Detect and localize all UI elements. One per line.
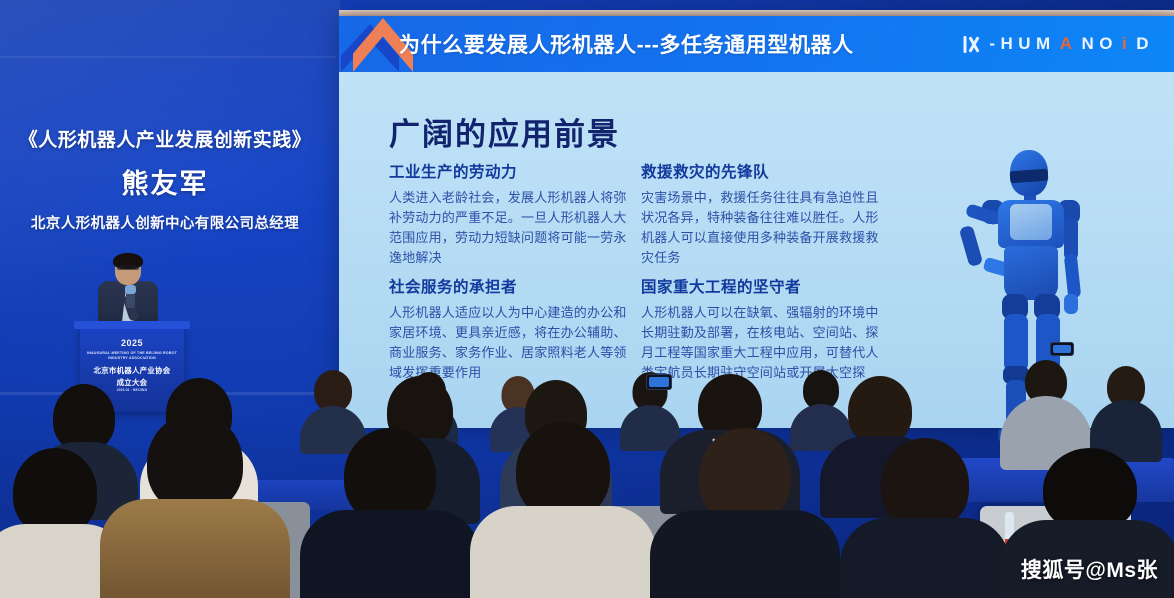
x-humanoid-logo-icon [965, 36, 982, 53]
podium-english-line: INAUGURAL MEETING OF THE BEIJING ROBOT I… [86, 351, 178, 362]
robot-forearm-right [1064, 253, 1082, 298]
slide-block-social-service: 社会服务的承担者 人形机器人适应以人为中心建造的办公和家居环境、更具亲近感，将在… [389, 275, 637, 383]
podium-year-badge: 2025 [80, 338, 184, 348]
microphone-head [125, 285, 136, 294]
slide-header-bar: 为什么要发展人形机器人---多任务通用型机器人 -HUMANOiD [339, 16, 1174, 72]
speaker-name: 熊友军 [0, 162, 330, 201]
robot-hand-right [1064, 294, 1078, 314]
robot-lower-torso [1004, 246, 1058, 300]
slide-body: 广阔的应用前景 工业生产的劳动力 人类进入老龄社会，发展人形机器人将弥补劳动力的… [339, 72, 1174, 428]
block-heading: 社会服务的承担者 [389, 275, 637, 297]
slide-block-rescue: 救援救灾的先锋队 灾害场景中，救援任务往往具有急迫性且状况各异，特种装备往往难以… [641, 160, 889, 268]
robot-shin-right [1038, 380, 1058, 432]
brand-text-3: D [1136, 34, 1154, 54]
slide-header-title: 为什么要发展人形机器人---多任务通用型机器人 [399, 29, 854, 59]
talk-title: 《人形机器人产业发展创新实践》 [0, 128, 330, 155]
block-heading: 国家重大工程的坚守者 [641, 275, 889, 297]
slide-section-title: 广阔的应用前景 [389, 109, 620, 154]
brand-text-2: NO [1081, 34, 1118, 54]
robot-chest-plate [1010, 204, 1052, 240]
podium-footer-line: 2025.01 · BEIJING [84, 388, 180, 392]
brand-text-1: -HUM [989, 34, 1055, 54]
block-heading: 工业生产的劳动力 [389, 160, 637, 182]
watermark-text: 搜狐号@Ms张 [1021, 554, 1158, 584]
robot-shin-left [1006, 380, 1026, 432]
podium-chinese-line-1: 北京市机器人产业协会 [84, 366, 180, 377]
humanoid-robot-illustration [948, 142, 1118, 462]
conference-photo-scene: 《人形机器人产业发展创新实践》 熊友军 北京人形机器人创新中心有限公司总经理 2… [0, 0, 1174, 598]
block-body: 灾害场景中，救援任务往往具有急迫性且状况各异，特种装备往往难以胜任。人形机器人可… [641, 188, 889, 268]
block-body: 人形机器人适应以人为中心建造的办公和家居环境、更具亲近感，将在办公辅助、商业服务… [389, 303, 637, 383]
brand-text-accent-i: i [1122, 34, 1132, 54]
speaker-glasses [117, 265, 139, 270]
block-heading: 救援救灾的先锋队 [641, 160, 889, 182]
x-humanoid-brand-logo: -HUMANOiD [965, 34, 1154, 54]
robot-forearm-left [959, 225, 983, 267]
brand-text-accent-a: A [1060, 34, 1078, 54]
robot-foot-right [1032, 428, 1066, 442]
slide-block-industry: 工业生产的劳动力 人类进入老龄社会，发展人形机器人将弥补劳动力的严重不足。一旦人… [389, 160, 637, 268]
block-body: 人形机器人可以在缺氧、强辐射的环境中长期驻勤及部署，在核电站、空间站、探月工程等… [641, 303, 889, 402]
speaker-role: 北京人形机器人创新中心有限公司总经理 [0, 212, 330, 233]
podium-top-edge [74, 321, 190, 329]
podium: 2025 INAUGURAL MEETING OF THE BEIJING RO… [80, 326, 184, 412]
slide-block-national-projects: 国家重大工程的坚守者 人形机器人可以在缺氧、强辐射的环境中长期驻勤及部署，在核电… [641, 275, 889, 402]
robot-foot-left [998, 428, 1032, 442]
speaker-title-panel: 《人形机器人产业发展创新实践》 熊友军 北京人形机器人创新中心有限公司总经理 [0, 128, 330, 233]
block-body: 人类进入老龄社会，发展人形机器人将弥补劳动力的严重不足。一旦人形机器人大范围应用… [389, 188, 637, 268]
robot-thigh-left [1004, 314, 1028, 372]
robot-thigh-right [1036, 314, 1060, 372]
backdrop-seam-line [0, 56, 336, 58]
projection-screen: 为什么要发展人形机器人---多任务通用型机器人 -HUMANOiD 广阔的应用前… [339, 16, 1174, 428]
